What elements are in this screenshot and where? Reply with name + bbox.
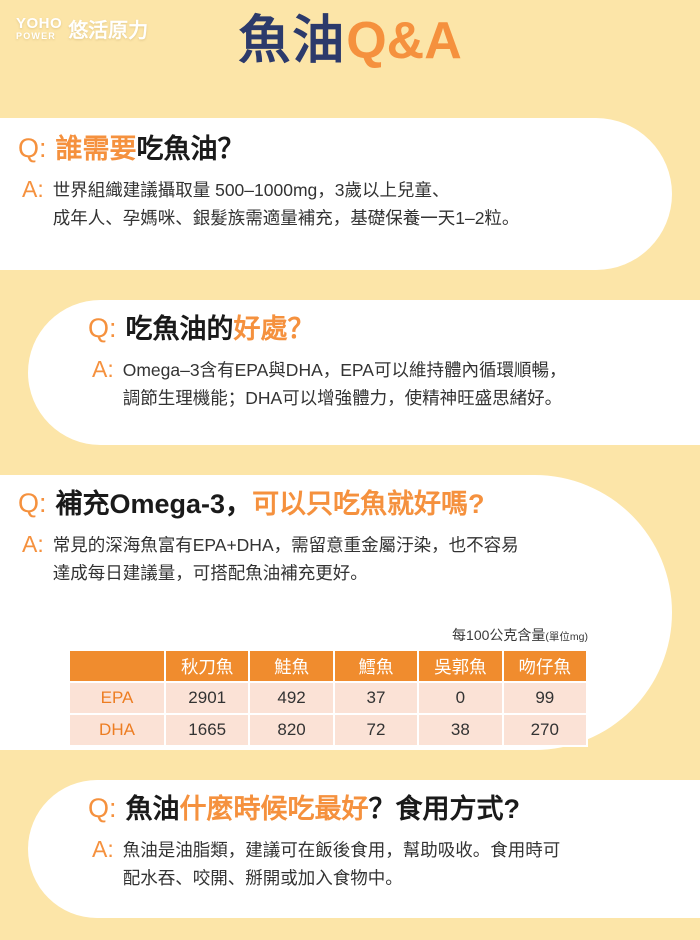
question-row-3: Q: 補充Omega-3，可以只吃魚就好嗎?: [18, 489, 485, 520]
question-plain-4a: 魚油: [126, 794, 180, 824]
table-cell: 270: [503, 714, 587, 746]
answer-marker-4: A:: [92, 836, 114, 862]
table-cell: 2901: [165, 682, 249, 714]
table-row-header: EPA: [69, 682, 165, 714]
question-marker-3: Q:: [18, 489, 47, 519]
question-highlight-4: 什麼時候吃最好: [180, 794, 369, 824]
question-row-1: Q: 誰需要吃魚油？: [18, 134, 245, 165]
answer-line: 世界組織建議攝取量 500–1000mg，3歲以上兒童、: [53, 176, 520, 204]
question-text-2: 吃魚油的好處？: [126, 314, 315, 345]
table-col-header: 吳郭魚: [418, 650, 502, 682]
table-col-header: 鮭魚: [249, 650, 333, 682]
table-corner-cell: [69, 650, 165, 682]
nutrition-table: 秋刀魚 鮭魚 鱈魚 吳郭魚 吻仔魚 EPA 2901 492 37 0 99: [68, 649, 588, 747]
answer-marker-1: A:: [22, 176, 44, 202]
question-marker-1: Q:: [18, 134, 47, 164]
qa-card-1: Q: 誰需要吃魚油？ A: 世界組織建議攝取量 500–1000mg，3歲以上兒…: [0, 118, 672, 270]
answer-line: 成年人、孕媽咪、銀髮族需適量補充，基礎保養一天1–2粒。: [53, 204, 520, 232]
qa-card-3: Q: 補充Omega-3，可以只吃魚就好嗎? A: 常見的深海魚富有EPA+DH…: [0, 475, 672, 750]
table-cell: 820: [249, 714, 333, 746]
question-text-3: 補充Omega-3，可以只吃魚就好嗎?: [56, 489, 485, 520]
answer-text-2: Omega–3含有EPA與DHA，EPA可以維持體內循環順暢， 調節生理機能；D…: [123, 356, 567, 413]
table-col-header: 鱈魚: [334, 650, 418, 682]
table-row-header: DHA: [69, 714, 165, 746]
table-cell: 0: [418, 682, 502, 714]
answer-line: 達成每日建議量，可搭配魚油補充更好。: [53, 559, 519, 587]
infographic-page: YOHO POWER 悠活原力 魚油Q&A Q: 誰需要吃魚油？ A: 世界組織…: [0, 0, 700, 940]
question-highlight-2: 好處？: [234, 314, 315, 344]
answer-text-4: 魚油是油脂類，建議可在飯後食用，幫助吸收。食用時可 配水吞、咬開、掰開或加入食物…: [123, 836, 561, 893]
table-cell: 99: [503, 682, 587, 714]
answer-text-1: 世界組織建議攝取量 500–1000mg，3歲以上兒童、 成年人、孕媽咪、銀髮族…: [53, 176, 520, 233]
table-cell: 38: [418, 714, 502, 746]
question-row-2: Q: 吃魚油的好處？: [88, 314, 315, 345]
answer-line: 調節生理機能；DHA可以增強體力，使精神旺盛思緒好。: [123, 384, 567, 412]
question-text-1: 誰需要吃魚油？: [56, 134, 245, 165]
table-cell: 1665: [165, 714, 249, 746]
question-text-4: 魚油什麼時候吃最好？食用方式?: [126, 794, 521, 825]
question-marker-4: Q:: [88, 794, 117, 824]
table-cell: 72: [334, 714, 418, 746]
qa-card-4: Q: 魚油什麼時候吃最好？食用方式? A: 魚油是油脂類，建議可在飯後食用，幫助…: [28, 780, 700, 918]
question-row-4: Q: 魚油什麼時候吃最好？食用方式?: [88, 794, 520, 825]
nutrition-table-wrapper: 每100公克含量(單位mg) 秋刀魚 鮭魚 鱈魚 吳郭魚 吻仔魚 EPA: [68, 625, 588, 747]
question-plain-4b: ？食用方式?: [369, 794, 521, 824]
page-title: 魚油Q&A: [0, 14, 700, 69]
table-col-header: 秋刀魚: [165, 650, 249, 682]
answer-row-4: A: 魚油是油脂類，建議可在飯後食用，幫助吸收。食用時可 配水吞、咬開、掰開或加…: [92, 836, 560, 893]
answer-row-3: A: 常見的深海魚富有EPA+DHA，需留意重金屬汙染，也不容易 達成每日建議量…: [22, 531, 519, 588]
answer-line: 魚油是油脂類，建議可在飯後食用，幫助吸收。食用時可: [123, 836, 561, 864]
question-highlight-3: 可以只吃魚就好嗎?: [252, 489, 485, 519]
table-row: EPA 2901 492 37 0 99: [69, 682, 587, 714]
answer-line: Omega–3含有EPA與DHA，EPA可以維持體內循環順暢，: [123, 356, 567, 384]
page-title-chinese: 魚油: [238, 12, 346, 70]
answer-row-1: A: 世界組織建議攝取量 500–1000mg，3歲以上兒童、 成年人、孕媽咪、…: [22, 176, 519, 233]
answer-line: 常見的深海魚富有EPA+DHA，需留意重金屬汙染，也不容易: [53, 531, 519, 559]
question-highlight-1: 誰需要: [56, 134, 137, 164]
table-col-header: 吻仔魚: [503, 650, 587, 682]
answer-marker-2: A:: [92, 356, 114, 382]
table-cell: 37: [334, 682, 418, 714]
question-plain-3: 補充Omega-3，: [56, 489, 253, 519]
header-band: YOHO POWER 悠活原力 魚油Q&A: [0, 0, 700, 118]
table-header-row: 秋刀魚 鮭魚 鱈魚 吳郭魚 吻仔魚: [69, 650, 587, 682]
question-plain-2: 吃魚油的: [126, 314, 234, 344]
caption-main: 每100公克含量: [452, 627, 545, 643]
table-cell: 492: [249, 682, 333, 714]
answer-marker-3: A:: [22, 531, 44, 557]
answer-text-3: 常見的深海魚富有EPA+DHA，需留意重金屬汙染，也不容易 達成每日建議量，可搭…: [53, 531, 519, 588]
question-marker-2: Q:: [88, 314, 117, 344]
nutrition-table-caption: 每100公克含量(單位mg): [68, 625, 588, 645]
answer-line: 配水吞、咬開、掰開或加入食物中。: [123, 864, 561, 892]
page-title-qa: Q&A: [346, 12, 462, 70]
qa-card-2: Q: 吃魚油的好處？ A: Omega–3含有EPA與DHA，EPA可以維持體內…: [28, 300, 700, 445]
table-row: DHA 1665 820 72 38 270: [69, 714, 587, 746]
caption-unit: (單位mg): [545, 631, 588, 643]
question-plain-1: 吃魚油？: [137, 134, 245, 164]
answer-row-2: A: Omega–3含有EPA與DHA，EPA可以維持體內循環順暢， 調節生理機…: [92, 356, 566, 413]
